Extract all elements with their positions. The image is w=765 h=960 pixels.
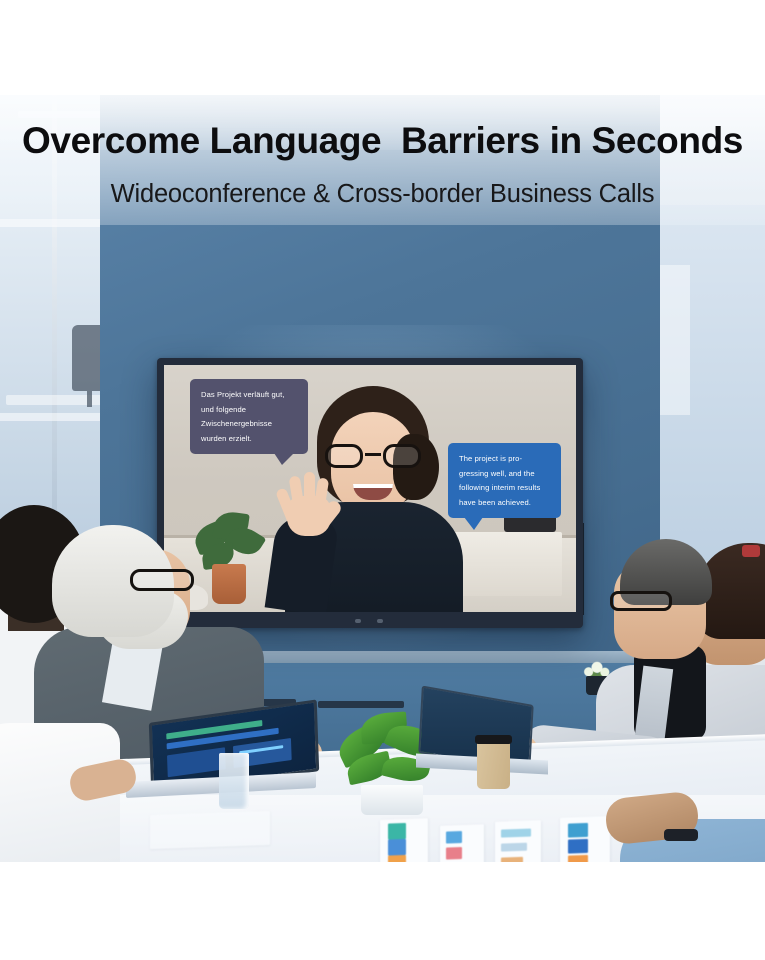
participant-glasses (323, 444, 423, 468)
printed-chart-document (560, 816, 610, 862)
cup-body (477, 743, 510, 789)
chart-panel (167, 747, 226, 777)
bottom-white-band (0, 862, 765, 960)
printed-chart-document (495, 820, 541, 862)
doc-bar (388, 855, 406, 862)
plant-pot (361, 785, 423, 815)
attendee-watch (664, 829, 698, 841)
bubble-text-german: Das Projekt verläuft gut, und folgende Z… (201, 390, 285, 443)
bubble-tail (464, 517, 483, 530)
doc-bar (501, 829, 531, 838)
doc-bar (446, 831, 462, 844)
attendee-glasses (130, 569, 194, 591)
marketing-banner: Das Projekt verläuft gut, und folgende Z… (0, 0, 765, 960)
page-title: Overcome Language Barriers in Seconds (0, 116, 765, 166)
printed-chart-document (440, 824, 484, 862)
bubble-tail (274, 453, 294, 465)
glasses-lens-right (383, 444, 421, 468)
doc-bar (501, 843, 527, 852)
bubble-text-english: The project is pro-gressing well, and th… (459, 454, 540, 507)
water-glass (219, 753, 249, 809)
doc-bar (388, 839, 406, 856)
speech-bubble-source-german: Das Projekt verläuft gut, und folgende Z… (190, 379, 308, 454)
glasses-bridge (365, 453, 381, 456)
participant-waving-hand (281, 470, 337, 534)
display-sensor-bar (347, 618, 393, 624)
doc-bar (568, 839, 588, 854)
doc-bar (568, 855, 588, 862)
sensor-dot (377, 619, 383, 623)
speech-bubble-translated-english: The project is pro-gressing well, and th… (448, 443, 561, 518)
glasses-lens-left (325, 444, 363, 468)
attendee-glasses (610, 591, 672, 611)
palm (287, 496, 331, 536)
sensor-dot (355, 619, 361, 623)
printed-chart-document (380, 818, 428, 862)
doc-bar (388, 823, 406, 840)
doc-bar (568, 823, 588, 838)
cup-lid (475, 735, 512, 744)
attendee-right-front (620, 795, 765, 862)
printed-document (150, 811, 270, 849)
coffee-cup (477, 735, 510, 789)
page-subtitle: Wideoconference & Cross-border Business … (0, 176, 765, 212)
doc-bar (446, 847, 462, 860)
attendee-left-front (0, 723, 120, 862)
